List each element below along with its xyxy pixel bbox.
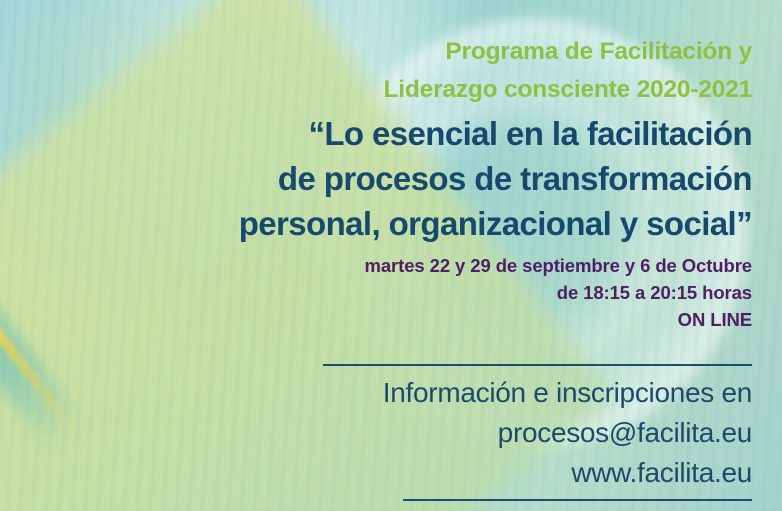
schedule-dates: martes 22 y 29 de septiembre y 6 de Octu… <box>365 255 752 277</box>
schedule-time: de 18:15 a 20:15 horas <box>557 282 752 304</box>
headline-line-3: personal, organizacional y social” <box>239 206 752 242</box>
contact-email[interactable]: procesos@facilita.eu <box>498 417 752 449</box>
contact-website[interactable]: www.facilita.eu <box>571 457 752 489</box>
divider-rule-bottom <box>403 499 752 501</box>
headline-line-1: “Lo esencial en la facilitación <box>308 116 752 152</box>
poster-canvas: Programa de Facilitación y Liderazgo con… <box>0 0 782 511</box>
headline-line-2: de procesos de transformación <box>278 161 752 197</box>
program-subtitle-line-2: Liderazgo consciente 2020-2021 <box>384 76 752 104</box>
divider-rule-top <box>323 364 752 366</box>
contact-intro-text: Información e inscripciones en <box>383 377 752 409</box>
schedule-mode: ON LINE <box>678 309 752 331</box>
program-subtitle-line-1: Programa de Facilitación y <box>445 38 752 66</box>
poster-content: Programa de Facilitación y Liderazgo con… <box>0 0 782 511</box>
